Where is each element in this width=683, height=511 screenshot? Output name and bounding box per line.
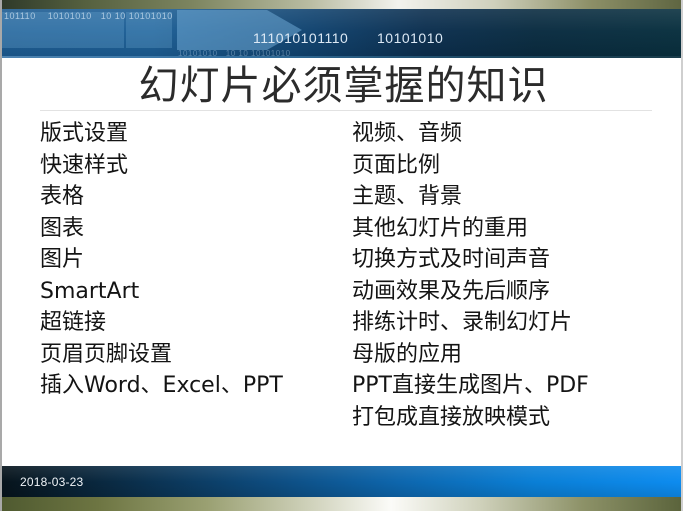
list-item: 图片	[40, 244, 340, 276]
header-binary-text-left: 101110 10101010 10 10 10101010	[4, 11, 173, 21]
list-item: SmartArt	[40, 276, 340, 308]
footer-sheen-overlay	[2, 466, 683, 498]
list-item: 视频、音频	[352, 118, 672, 150]
title-underline-rule	[40, 110, 652, 111]
list-item: 图表	[40, 213, 340, 245]
list-item: 超链接	[40, 307, 340, 339]
list-item: 插入Word、Excel、PPT	[40, 370, 340, 402]
presentation-slide: 101110 10101010 10 10 10101010 10101010 …	[0, 0, 683, 511]
header-bottom-edge-line	[2, 56, 683, 58]
slide-footer-banner: 2018-03-23	[2, 466, 683, 511]
topic-list-left-column: 版式设置 快速样式 表格 图表 图片 SmartArt 超链接 页眉页脚设置 插…	[40, 118, 340, 402]
list-item: 主题、背景	[352, 181, 672, 213]
list-item: 版式设置	[40, 118, 340, 150]
list-item: 页眉页脚设置	[40, 339, 340, 371]
list-item: 其他幻灯片的重用	[352, 213, 672, 245]
header-binary-text-middle: 111010101110	[253, 30, 348, 46]
topic-list-right-column: 视频、音频 页面比例 主题、背景 其他幻灯片的重用 切换方式及时间声音 动画效果…	[352, 118, 672, 433]
header-binary-text-right: 10101010	[377, 30, 443, 46]
list-item: 表格	[40, 181, 340, 213]
list-item: 母版的应用	[352, 339, 672, 371]
slide-header-banner: 101110 10101010 10 10 10101010 10101010 …	[2, 0, 683, 58]
list-item: 动画效果及先后顺序	[352, 276, 672, 308]
list-item: 切换方式及时间声音	[352, 244, 672, 276]
footer-olive-gradient-strip	[2, 497, 683, 511]
slide-title: 幻灯片必须掌握的知识	[2, 62, 683, 110]
list-item: 排练计时、录制幻灯片	[352, 307, 672, 339]
list-item: 页面比例	[352, 150, 672, 182]
slide-body: 版式设置 快速样式 表格 图表 图片 SmartArt 超链接 页眉页脚设置 插…	[2, 118, 683, 458]
list-item: 打包成直接放映模式	[352, 402, 672, 434]
slide-date-label: 2018-03-23	[20, 475, 83, 489]
list-item: 快速样式	[40, 150, 340, 182]
list-item: PPT直接生成图片、PDF	[352, 370, 672, 402]
